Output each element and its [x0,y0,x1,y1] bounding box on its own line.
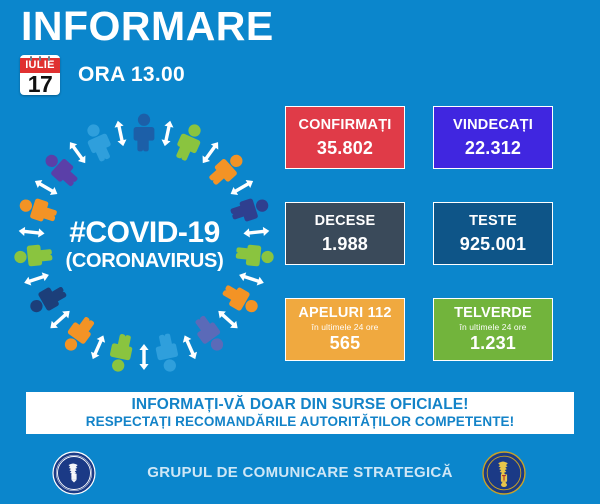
calendar-icon: IULIE 17 [20,55,60,95]
stat-box-apeluri-112[interactable]: APELURI 112 în ultimele 24 ore 565 [285,298,405,361]
person-figure [219,281,262,318]
stat-sublabel-telverde: în ultimele 24 ore [459,322,526,332]
stat-row-1: CONFIRMAȚI 35.802 VINDECAȚI 22.312 [285,106,570,169]
person-figure [17,194,59,225]
distancing-arrow [215,307,240,331]
distancing-arrow [243,226,270,238]
person-figure [229,194,271,225]
stat-box-teste[interactable]: TESTE 925.001 [433,202,553,265]
circle-people-svg [12,105,277,380]
calendar-rings [20,56,60,60]
statistics-grid: CONFIRMAȚI 35.802 VINDECAȚI 22.312 DECES… [285,106,570,361]
person-figure [153,332,181,373]
stat-label-apeluri-112: APELURI 112 [298,305,391,322]
distancing-arrow [228,177,255,198]
person-figure [235,243,275,268]
person-figure [134,114,155,152]
advisory-banner: INFORMAȚI-VĂ DOAR DIN SURSE OFICIALE! RE… [26,392,574,434]
time-label: ORA 13.00 [78,63,185,87]
stat-box-confirmati[interactable]: CONFIRMAȚI 35.802 [285,106,405,169]
stat-value-confirmati: 35.802 [317,137,373,159]
stat-value-telverde: 1.231 [470,332,516,354]
person-figure [59,313,98,356]
stat-label-teste: TESTE [469,213,517,230]
page-title: INFORMARE [21,3,274,49]
person-figure [40,149,82,190]
distancing-arrow [33,177,60,198]
stat-value-decese: 1.988 [322,233,368,255]
stat-box-telverde[interactable]: TELVERDE în ultimele 24 ore 1.231 [433,298,553,361]
distancing-arrow [139,344,148,370]
stat-value-apeluri-112: 565 [330,332,361,354]
ministerul-afacerilor-interne-emblem-icon [482,451,526,495]
stat-label-vindecati: VINDECAȚI [453,117,533,134]
person-figure [172,121,206,164]
distancing-arrow [160,120,174,147]
calendar-day: 17 [20,73,60,95]
person-figure [190,313,229,356]
stat-row-2: DECESE 1.988 TESTE 925.001 [285,202,570,265]
footer: GRUPUL DE COMUNICARE STRATEGICĂ [0,440,600,504]
stat-sublabel-apeluri-112: în ultimele 24 ore [311,322,378,332]
distancing-arrow [23,271,51,288]
distancing-arrow [89,333,108,360]
stat-box-decese[interactable]: DECESE 1.988 [285,202,405,265]
stat-box-vindecati[interactable]: VINDECAȚI 22.312 [433,106,553,169]
date-time-row: IULIE 17 ORA 13.00 [20,55,185,95]
advisory-line-1: INFORMAȚI-VĂ DOAR DIN SURSE OFICIALE! [132,396,469,414]
stat-label-confirmati: CONFIRMAȚI [298,117,391,134]
distancing-arrow [113,120,127,147]
distancing-arrow [180,333,199,360]
distancing-arrow [18,226,45,238]
advisory-line-2: RESPECTAȚI RECOMANDĂRILE AUTORITĂȚILOR C… [86,414,515,430]
stat-value-teste: 925.001 [460,233,526,255]
social-distancing-circle-graphic: #COVID-19 (CORONAVIRUS) [12,105,277,380]
stat-label-telverde: TELVERDE [454,305,532,322]
person-figure [13,243,53,268]
stat-row-3: APELURI 112 în ultimele 24 ore 565 TELVE… [285,298,570,361]
distancing-arrow [238,271,266,288]
person-figure [26,281,69,318]
distancing-arrow [66,139,89,165]
distancing-arrow [47,307,72,331]
distancing-arrow [199,139,222,165]
person-figure [81,121,115,164]
person-figure [107,332,135,373]
stat-value-vindecati: 22.312 [465,137,521,159]
infographic-canvas: INFORMARE IULIE 17 ORA 13.00 [0,0,600,504]
person-figure [206,149,248,190]
stat-label-decese: DECESE [315,213,376,230]
